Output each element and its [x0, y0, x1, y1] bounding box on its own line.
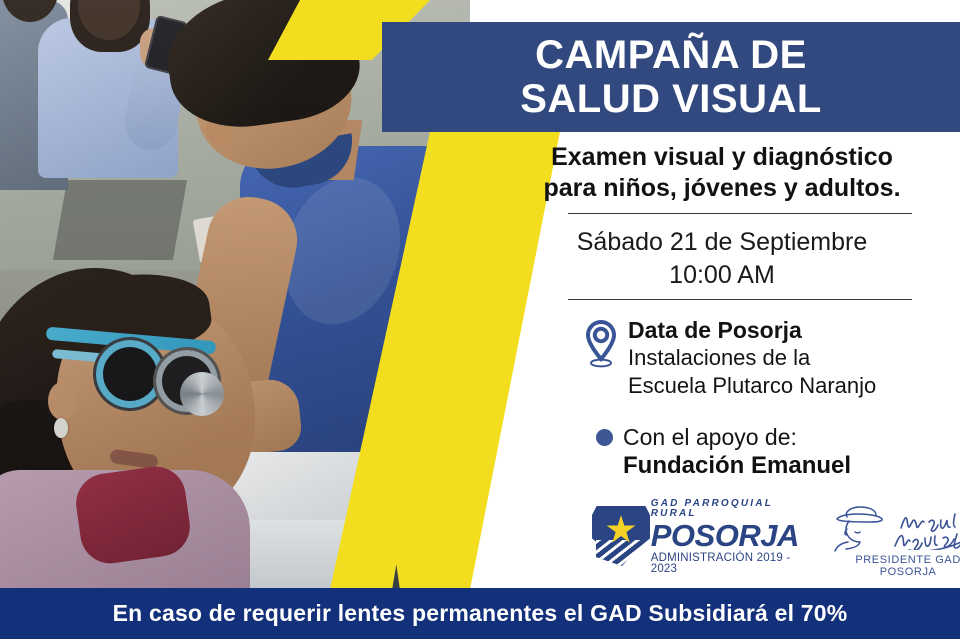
posorja-name: POSORJA — [651, 520, 805, 551]
location-line-2: Escuela Plutarco Naranjo — [628, 372, 876, 400]
support-label: Con el apoyo de: — [623, 424, 797, 451]
schedule-date: Sábado 21 de Septiembre — [496, 226, 948, 259]
title-line-1: CAMPAÑA DE — [535, 33, 807, 77]
subtitle-line-1: Examen visual y diagnóstico — [496, 142, 948, 173]
posorja-eyebrow: GAD PARROQUIAL RURAL — [651, 499, 805, 519]
banner-text: En caso de requerir lentes permanentes e… — [113, 600, 848, 627]
romero-caption: PRESIDENTE GAD POSORJA — [827, 554, 960, 578]
location-title: Data de Posorja — [628, 316, 876, 344]
divider-bottom — [568, 299, 912, 300]
bullet-dot-icon — [596, 429, 613, 446]
subtitle-line-2: para niños, jóvenes y adultos. — [496, 173, 948, 204]
map-pin-icon — [584, 320, 618, 368]
posorja-administration: ADMINISTRACIÓN 2019 - 2023 — [651, 553, 805, 576]
schedule-block: Sábado 21 de Septiembre 10:00 AM — [496, 226, 948, 292]
location-line-1: Instalaciones de la — [628, 344, 876, 372]
posorja-wordmark: GAD PARROQUIAL RURAL POSORJA ADMINISTRAC… — [651, 499, 805, 576]
support-organization: Fundación Emanuel — [623, 451, 960, 481]
bottom-banner: En caso de requerir lentes permanentes e… — [0, 588, 960, 639]
flyer-canvas: CAMPAÑA DE SALUD VISUAL Examen visual y … — [0, 0, 960, 639]
title-bar: CAMPAÑA DE SALUD VISUAL — [382, 22, 960, 132]
title-line-2: SALUD VISUAL — [520, 77, 822, 121]
support-label-row: Con el apoyo de: — [596, 424, 960, 451]
logo-manuel-romero: PRESIDENTE GAD POSORJA — [827, 502, 958, 572]
logo-posorja: GAD PARROQUIAL RURAL POSORJA ADMINISTRAC… — [592, 499, 805, 576]
shield-star-icon — [592, 506, 644, 568]
logo-strip: GAD PARROQUIAL RURAL POSORJA ADMINISTRAC… — [592, 496, 958, 578]
manuel-romero-signature — [889, 506, 960, 550]
divider-top — [568, 213, 912, 214]
shield-stripes — [596, 540, 646, 566]
support-block: Con el apoyo de: Fundación Emanuel — [596, 424, 960, 481]
location-text: Data de Posorja Instalaciones de la Escu… — [628, 316, 876, 400]
location-block: Data de Posorja Instalaciones de la Escu… — [584, 316, 960, 400]
schedule-time: 10:00 AM — [496, 259, 948, 292]
subtitle: Examen visual y diagnóstico para niños, … — [496, 142, 948, 204]
